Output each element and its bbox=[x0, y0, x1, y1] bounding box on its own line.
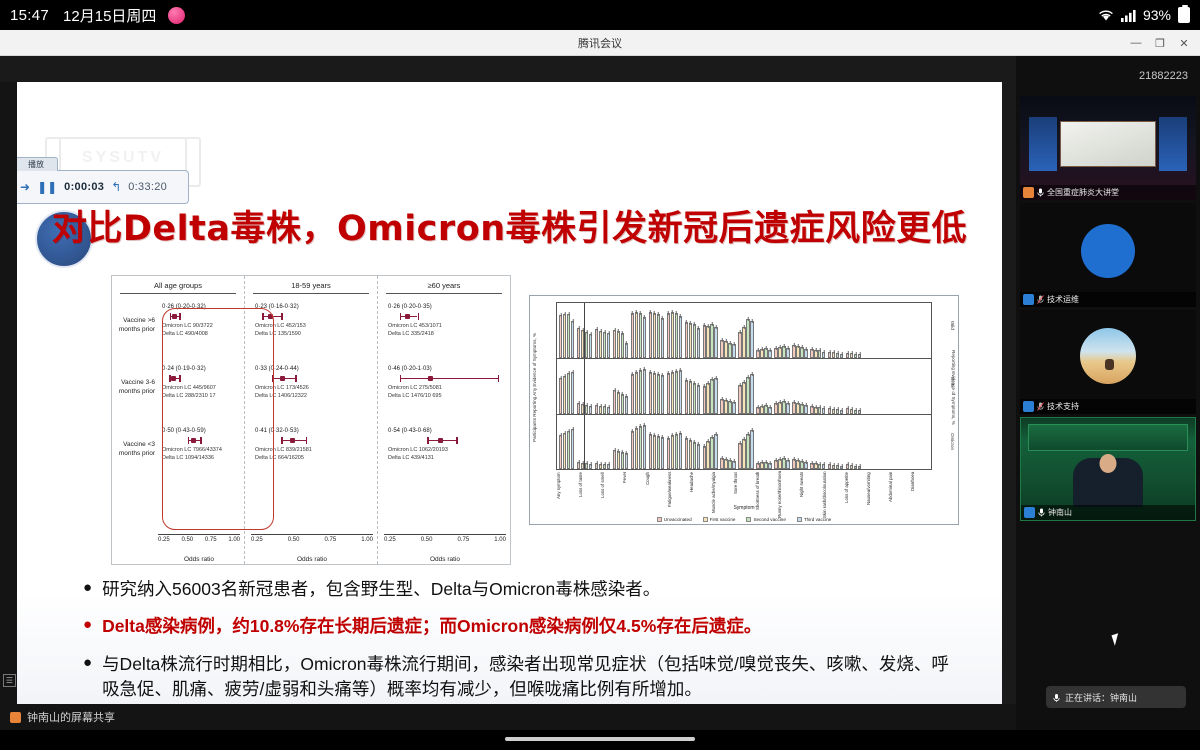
bar bbox=[559, 378, 562, 414]
signal-icon bbox=[1121, 9, 1136, 22]
forest-panel-title: 18-59 years bbox=[253, 276, 369, 294]
forest-x-tick: 0.50 bbox=[181, 537, 193, 543]
video-tile-3-name: 技术支持 bbox=[1047, 401, 1079, 412]
bar bbox=[607, 407, 610, 415]
bar bbox=[567, 431, 570, 469]
participant-sidebar: 21882223 全国重症肺炎大讲堂 bbox=[1016, 56, 1200, 730]
bar-x-label: Fever bbox=[622, 472, 644, 518]
bar bbox=[653, 373, 656, 414]
stage-screen bbox=[1060, 121, 1155, 167]
bar bbox=[720, 458, 723, 469]
bar bbox=[689, 323, 692, 358]
avatar-placeholder bbox=[1080, 328, 1136, 384]
microphone-icon bbox=[1053, 693, 1060, 702]
bar-group bbox=[631, 303, 646, 358]
slide-title: 对比Delta毒株，Omicron毒株引发新冠后遗症风险更低 bbox=[17, 200, 1002, 251]
forest-x-axis: 0.250.500.751.00 bbox=[384, 534, 506, 550]
forest-entry: 0·26 (0·20-0·32)Omicron LC 90/3722Delta … bbox=[158, 304, 240, 366]
forest-sample-size: Omicron LC 453/1071 bbox=[388, 322, 506, 330]
forest-x-tick: 0.50 bbox=[288, 537, 300, 543]
bar bbox=[786, 348, 789, 358]
bar-x-label: Muscle ache/myalgia bbox=[711, 472, 733, 518]
bar-x-label: Diarrhoea bbox=[910, 472, 932, 518]
bar-x-label: Any symptom bbox=[556, 472, 578, 518]
bar-group bbox=[613, 303, 628, 358]
bar bbox=[732, 344, 735, 358]
bar bbox=[653, 313, 656, 358]
bar-group bbox=[595, 303, 610, 358]
bar bbox=[689, 440, 692, 469]
bar bbox=[625, 396, 628, 414]
bar bbox=[635, 312, 638, 358]
bullet-text: 与Delta株流行时期相比，Omicron毒株流行期间，感染者出现常见症状（包括… bbox=[102, 652, 966, 703]
bar bbox=[571, 321, 574, 358]
bar bbox=[685, 322, 688, 358]
bar bbox=[814, 407, 817, 415]
bar bbox=[595, 463, 598, 469]
bar bbox=[621, 452, 624, 469]
bullet-text: 研究纳入56003名新冠患者，包含野生型、Delta与Omicron毒株感染者。 bbox=[102, 577, 660, 602]
avatar bbox=[1023, 294, 1034, 305]
bar bbox=[710, 379, 713, 414]
bar bbox=[768, 407, 771, 415]
bar-panel-delta: Delta bbox=[556, 358, 932, 414]
bar bbox=[617, 392, 620, 414]
bar bbox=[760, 462, 763, 469]
bar-x-label: Cough bbox=[645, 472, 667, 518]
battery-icon bbox=[1178, 7, 1190, 23]
bar-group bbox=[828, 359, 843, 414]
forest-entry: 0·24 (0·19-0·32)Omicron LC 445/9607Delta… bbox=[158, 366, 240, 428]
bar bbox=[679, 316, 682, 358]
video-tile-1-name: 全国重症肺炎大讲堂 bbox=[1047, 187, 1119, 198]
bar bbox=[756, 350, 759, 358]
forest-sample-size: Omicron LC 452/153 bbox=[255, 322, 373, 330]
bar bbox=[760, 349, 763, 358]
bar bbox=[786, 403, 789, 414]
bar bbox=[774, 460, 777, 469]
bar bbox=[697, 328, 700, 358]
forest-estimate-label: 0·26 (0·20-0·32) bbox=[162, 304, 240, 310]
bar bbox=[643, 425, 646, 469]
bullet-marker: ● bbox=[83, 577, 92, 602]
bar-x-label: Nausea/vomiting bbox=[866, 472, 888, 518]
bar bbox=[782, 401, 785, 414]
bar-group bbox=[667, 303, 682, 358]
bar bbox=[778, 402, 781, 414]
forest-x-tick: 0.25 bbox=[158, 537, 170, 543]
bar bbox=[750, 374, 753, 414]
forest-plot-figure: All age groupsVaccine >6 months priorVac… bbox=[111, 275, 511, 565]
bar-group bbox=[595, 359, 610, 414]
forest-x-tick: 0.25 bbox=[251, 537, 263, 543]
bar bbox=[786, 460, 789, 469]
bar-x-label: Abdominal pain bbox=[888, 472, 910, 518]
bar-group bbox=[685, 303, 700, 358]
bar bbox=[800, 347, 803, 358]
window-title: 腾讯会议 bbox=[578, 35, 622, 51]
video-tile-1[interactable]: 全国重症肺炎大讲堂 bbox=[1020, 96, 1196, 200]
bar-group bbox=[774, 359, 789, 414]
forest-entry: 0·46 (0·20-1·03)Omicron LC 275/5081Delta… bbox=[384, 366, 506, 428]
forest-x-tick: 0.50 bbox=[421, 537, 433, 543]
player-tab-label: 播放 bbox=[17, 157, 58, 171]
bar bbox=[724, 400, 727, 414]
bar bbox=[738, 443, 741, 469]
forest-entry: 0·26 (0·20-0·35)Omicron LC 453/1071Delta… bbox=[384, 304, 506, 366]
microphone-icon bbox=[1038, 508, 1045, 517]
forest-sample-size: Delta LC 1476/10 695 bbox=[388, 392, 506, 400]
bar bbox=[742, 439, 745, 469]
avatar bbox=[1023, 401, 1034, 412]
bar bbox=[599, 331, 602, 359]
forest-sample-size: Omicron LC 275/5081 bbox=[388, 384, 506, 392]
bar-group bbox=[559, 359, 574, 414]
bar bbox=[742, 382, 745, 414]
player-current-time: 0:00:03 bbox=[64, 181, 104, 193]
bar bbox=[625, 343, 628, 358]
maximize-button[interactable]: ❐ bbox=[1148, 30, 1172, 56]
bar-group bbox=[595, 415, 610, 469]
bar-group bbox=[828, 303, 843, 358]
bar bbox=[760, 406, 763, 414]
bar bbox=[703, 386, 706, 414]
forest-sample-size: Delta LC 664/16205 bbox=[255, 454, 373, 462]
bullet-marker: ● bbox=[83, 614, 92, 639]
bar bbox=[631, 313, 634, 358]
forest-confidence-interval bbox=[388, 374, 506, 383]
bar-group bbox=[774, 415, 789, 469]
bar bbox=[818, 350, 821, 358]
legend-item: Second vaccine bbox=[746, 517, 785, 522]
forest-x-tick: 0.75 bbox=[325, 537, 337, 543]
bar-panel-omicron: Omicron bbox=[556, 414, 932, 470]
bar-x-label: Fatigue/weakness bbox=[667, 472, 689, 518]
bar bbox=[581, 463, 584, 470]
bar-group bbox=[810, 303, 825, 358]
bar bbox=[818, 464, 821, 470]
bar-group bbox=[703, 415, 718, 469]
bar bbox=[738, 332, 741, 358]
tencent-meeting-window: 腾讯会议 — ❐ ✕ ☰ SYSUTV 播放 ➜ ❚❚ 0:00:03 bbox=[0, 30, 1200, 730]
legend-item: Third vaccine bbox=[797, 517, 831, 522]
forest-sample-size: Omicron LC 839/21581 bbox=[255, 446, 373, 454]
bar-group bbox=[756, 359, 771, 414]
bar bbox=[710, 324, 713, 358]
bar bbox=[703, 446, 706, 469]
forest-entry: 0·54 (0·43-0·68)Omicron LC 1062/20193Del… bbox=[384, 428, 506, 490]
bar-group bbox=[738, 303, 753, 358]
bar bbox=[732, 402, 735, 414]
rewind-icon[interactable]: ↰ bbox=[111, 180, 121, 194]
forest-panel-2: 18-59 years0·23 (0·16-0·32)Omicron LC 45… bbox=[245, 276, 378, 564]
bar bbox=[706, 383, 709, 414]
bar bbox=[746, 377, 749, 414]
bar-group bbox=[846, 303, 861, 358]
bar bbox=[617, 331, 620, 358]
bar-group bbox=[810, 359, 825, 414]
forest-sample-size: Omicron LC 90/3722 bbox=[162, 322, 240, 330]
bar-x-label: Sore throat bbox=[733, 472, 755, 518]
bar-group bbox=[828, 415, 843, 469]
bar-group bbox=[685, 415, 700, 469]
video-tile-3[interactable]: 技术支持 bbox=[1020, 310, 1196, 414]
slide-bullet-3: ●与Delta株流行时期相比，Omicron毒株流行期间，感染者出现常见症状（包… bbox=[83, 652, 966, 703]
bar bbox=[720, 399, 723, 414]
bar bbox=[846, 464, 849, 469]
bar bbox=[657, 314, 660, 358]
bar-group bbox=[613, 415, 628, 469]
bar bbox=[603, 332, 606, 358]
bar-group bbox=[756, 415, 771, 469]
bar bbox=[720, 340, 723, 358]
bar bbox=[563, 376, 566, 414]
minimize-button[interactable]: — bbox=[1124, 30, 1148, 56]
forest-entry: 0·33 (0·24-0·44)Omicron LC 173/4526Delta… bbox=[251, 366, 373, 428]
bar bbox=[657, 374, 660, 414]
bar-group bbox=[810, 415, 825, 469]
forest-sample-size: Delta LC 335/2418 bbox=[388, 330, 506, 338]
screen-share-status-bar: 钟南山的屏幕共享 bbox=[0, 704, 1016, 730]
bar-chart-legend: UnvaccinatedFirst vaccineSecond vaccineT… bbox=[530, 517, 958, 522]
bar bbox=[778, 459, 781, 469]
bar bbox=[671, 372, 674, 414]
bar bbox=[750, 430, 753, 469]
bar bbox=[559, 315, 562, 358]
bar bbox=[675, 313, 678, 358]
bar bbox=[724, 459, 727, 469]
bar-x-label: Headache bbox=[689, 472, 711, 518]
bar bbox=[613, 390, 616, 414]
forest-plot-area: 0·26 (0·20-0·35)Omicron LC 453/1071Delta… bbox=[384, 304, 506, 534]
bar-group bbox=[613, 359, 628, 414]
bar bbox=[768, 350, 771, 358]
bar bbox=[768, 463, 771, 470]
forest-estimate-label: 0·24 (0·19-0·32) bbox=[162, 366, 240, 372]
share-status-text: 钟南山的屏幕共享 bbox=[27, 709, 115, 725]
forest-row-label: Vaccine >6 months prior bbox=[112, 316, 158, 378]
bar bbox=[571, 429, 574, 469]
bar-panel-wild: Wild bbox=[556, 302, 932, 358]
bar-panel-tag: Delta bbox=[950, 377, 955, 388]
forest-estimate-label: 0·41 (0·32-0·53) bbox=[255, 428, 373, 434]
bar bbox=[577, 328, 580, 358]
bar bbox=[782, 346, 785, 358]
bar bbox=[653, 435, 656, 469]
bar-panel-tag: Omicron bbox=[950, 433, 955, 450]
bullet-marker: ● bbox=[83, 652, 92, 703]
bar-chart-x-labels: Any symptomLoss of tasteLoss of smellFev… bbox=[556, 472, 932, 518]
bar-group bbox=[631, 415, 646, 469]
bar bbox=[764, 462, 767, 470]
bar bbox=[800, 404, 803, 414]
bullet-text: Delta感染病例，约10.8%存在长期后遗症；而Omicron感染病例仅4.5… bbox=[102, 614, 761, 639]
bar bbox=[567, 373, 570, 414]
bar bbox=[567, 314, 570, 358]
bar bbox=[585, 332, 588, 358]
battery-percent: 93% bbox=[1143, 7, 1171, 23]
forest-sample-size: Delta LC 288/2310 17 bbox=[162, 392, 240, 400]
bar bbox=[661, 375, 664, 414]
bar bbox=[679, 433, 682, 469]
forest-x-axis-title: Odds ratio bbox=[384, 556, 506, 563]
next-icon[interactable]: ➜ bbox=[20, 180, 30, 194]
avatar bbox=[1023, 187, 1034, 198]
forest-panel-1: All age groupsVaccine >6 months priorVac… bbox=[112, 276, 245, 564]
bar bbox=[577, 403, 580, 414]
bar-group bbox=[667, 359, 682, 414]
stage-wall-right bbox=[1159, 117, 1187, 171]
bar bbox=[563, 314, 566, 358]
bar bbox=[724, 341, 727, 358]
bar-x-label: Skin rash/discolouration bbox=[822, 472, 844, 518]
bar-chart-x-axis-title: Symptom bbox=[530, 505, 958, 511]
legend-label: Second vaccine bbox=[753, 517, 785, 522]
video-tile-4-name: 钟南山 bbox=[1048, 507, 1072, 518]
bar bbox=[667, 313, 670, 358]
share-icon bbox=[10, 712, 21, 723]
forest-plot-area: 0·23 (0·16-0·32)Omicron LC 452/153Delta … bbox=[251, 304, 373, 534]
bar bbox=[603, 464, 606, 469]
bar bbox=[649, 312, 652, 358]
bar bbox=[814, 350, 817, 359]
bar bbox=[675, 434, 678, 469]
legend-item: Unvaccinated bbox=[657, 517, 692, 522]
bar-group bbox=[703, 303, 718, 358]
forest-confidence-interval bbox=[255, 312, 373, 321]
forest-confidence-interval bbox=[388, 312, 506, 321]
forest-x-axis: 0.250.500.751.00 bbox=[158, 534, 240, 550]
bar bbox=[639, 313, 642, 358]
bar-group bbox=[792, 359, 807, 414]
bar bbox=[571, 372, 574, 414]
bar bbox=[693, 383, 696, 414]
forest-confidence-interval bbox=[255, 436, 373, 445]
forest-row-label: Vaccine <3 months prior bbox=[112, 440, 158, 502]
bar bbox=[796, 460, 799, 469]
pause-icon[interactable]: ❚❚ bbox=[37, 180, 57, 194]
speaking-status-text: 正在讲话：钟南山 bbox=[1065, 691, 1137, 704]
bar bbox=[589, 406, 592, 414]
forest-estimate-label: 0·26 (0·20-0·35) bbox=[388, 304, 506, 310]
bar bbox=[728, 343, 731, 358]
forest-entry: 0·41 (0·32-0·53)Omicron LC 839/21581Delt… bbox=[251, 428, 373, 490]
forest-confidence-interval bbox=[255, 374, 373, 383]
conference-banner bbox=[1028, 424, 1188, 451]
bar bbox=[710, 437, 713, 469]
window-titlebar: 腾讯会议 — ❐ ✕ bbox=[0, 30, 1200, 56]
forest-entry: 0·50 (0·43-0·59)Omicron LC 7966/43374Del… bbox=[158, 428, 240, 490]
bar bbox=[689, 381, 692, 414]
bar bbox=[599, 406, 602, 415]
bar-group bbox=[649, 359, 664, 414]
bar bbox=[810, 349, 813, 358]
forest-estimate-label: 0·46 (0·20-1·03) bbox=[388, 366, 506, 372]
bar-group bbox=[720, 303, 735, 358]
bar bbox=[714, 327, 717, 358]
bar bbox=[581, 330, 584, 358]
shared-screen-stage[interactable]: ☰ SYSUTV 播放 ➜ ❚❚ 0:00:03 ↰ 0:33:20 对比Del… bbox=[0, 56, 1016, 730]
bar bbox=[639, 426, 642, 469]
notification-dot-icon bbox=[168, 7, 185, 24]
forest-sample-size: Omicron LC 1062/20193 bbox=[388, 446, 506, 454]
bar bbox=[661, 437, 664, 469]
forest-confidence-interval bbox=[162, 312, 240, 321]
forest-x-tick: 1.00 bbox=[228, 537, 240, 543]
bar-x-label: Loss of smell bbox=[600, 472, 622, 518]
left-rail: ☰ bbox=[0, 82, 17, 730]
bar bbox=[617, 451, 620, 469]
bar bbox=[643, 369, 646, 414]
bar-group bbox=[720, 415, 735, 469]
bar bbox=[585, 463, 588, 469]
avatar-placeholder bbox=[1081, 224, 1135, 278]
bar-group bbox=[846, 359, 861, 414]
bar bbox=[800, 461, 803, 469]
legend-label: Third vaccine bbox=[804, 517, 831, 522]
bar bbox=[742, 327, 745, 358]
forest-confidence-interval bbox=[162, 374, 240, 383]
bar-group bbox=[846, 415, 861, 469]
bar bbox=[613, 330, 616, 359]
video-tile-3-nameplate: 技术支持 bbox=[1020, 399, 1196, 414]
forest-panel-title: ≥60 years bbox=[386, 276, 502, 294]
forest-sample-size: Delta LC 490/4008 bbox=[162, 330, 240, 338]
bar bbox=[750, 321, 753, 358]
speaker-head bbox=[1100, 454, 1117, 473]
android-nav-bar bbox=[0, 730, 1200, 750]
microphone-muted-icon bbox=[1037, 295, 1044, 304]
bar-panel-tag: Wild bbox=[950, 321, 955, 330]
bar bbox=[714, 378, 717, 414]
wifi-icon bbox=[1098, 9, 1114, 22]
bar bbox=[667, 438, 670, 469]
avatar bbox=[1024, 507, 1035, 518]
bar bbox=[589, 464, 592, 470]
forest-x-axis: 0.250.500.751.00 bbox=[251, 534, 373, 550]
forest-x-axis-title: Odds ratio bbox=[158, 556, 240, 563]
forest-sample-size: Delta LC 135/1590 bbox=[255, 330, 373, 338]
forest-sample-size: Delta LC 1094/14336 bbox=[162, 454, 240, 462]
bar bbox=[621, 394, 624, 414]
bar bbox=[706, 326, 709, 358]
bar-group bbox=[738, 415, 753, 469]
bar bbox=[728, 460, 731, 469]
legend-item: First vaccine bbox=[703, 517, 736, 522]
bar bbox=[804, 405, 807, 414]
forest-estimate-label: 0·54 (0·43-0·68) bbox=[388, 428, 506, 434]
slide-bullet-list: ●研究纳入56003名新冠患者，包含野生型、Delta与Omicron毒株感染者… bbox=[83, 577, 966, 715]
stage-wall-left bbox=[1029, 117, 1057, 171]
presentation-slide: SYSUTV 播放 ➜ ❚❚ 0:00:03 ↰ 0:33:20 对比Delta… bbox=[17, 82, 1002, 736]
close-button[interactable]: ✕ bbox=[1172, 30, 1196, 56]
forest-sample-size: Omicron LC 173/4526 bbox=[255, 384, 373, 392]
video-tile-2[interactable]: 技术运维 bbox=[1020, 203, 1196, 307]
bar-group bbox=[738, 359, 753, 414]
bar bbox=[854, 466, 857, 470]
bar-group bbox=[703, 359, 718, 414]
menu-icon[interactable]: ☰ bbox=[3, 674, 16, 687]
media-player-overlay[interactable]: 播放 ➜ ❚❚ 0:00:03 ↰ 0:33:20 bbox=[17, 170, 189, 204]
bar bbox=[728, 401, 731, 414]
bar bbox=[581, 404, 584, 414]
home-pill[interactable] bbox=[505, 737, 695, 741]
video-tile-4[interactable]: 钟南山 bbox=[1020, 417, 1196, 521]
bar bbox=[746, 319, 749, 358]
bar bbox=[685, 438, 688, 469]
bar-x-label: Shortness of breath bbox=[755, 472, 777, 518]
bar bbox=[732, 461, 735, 469]
